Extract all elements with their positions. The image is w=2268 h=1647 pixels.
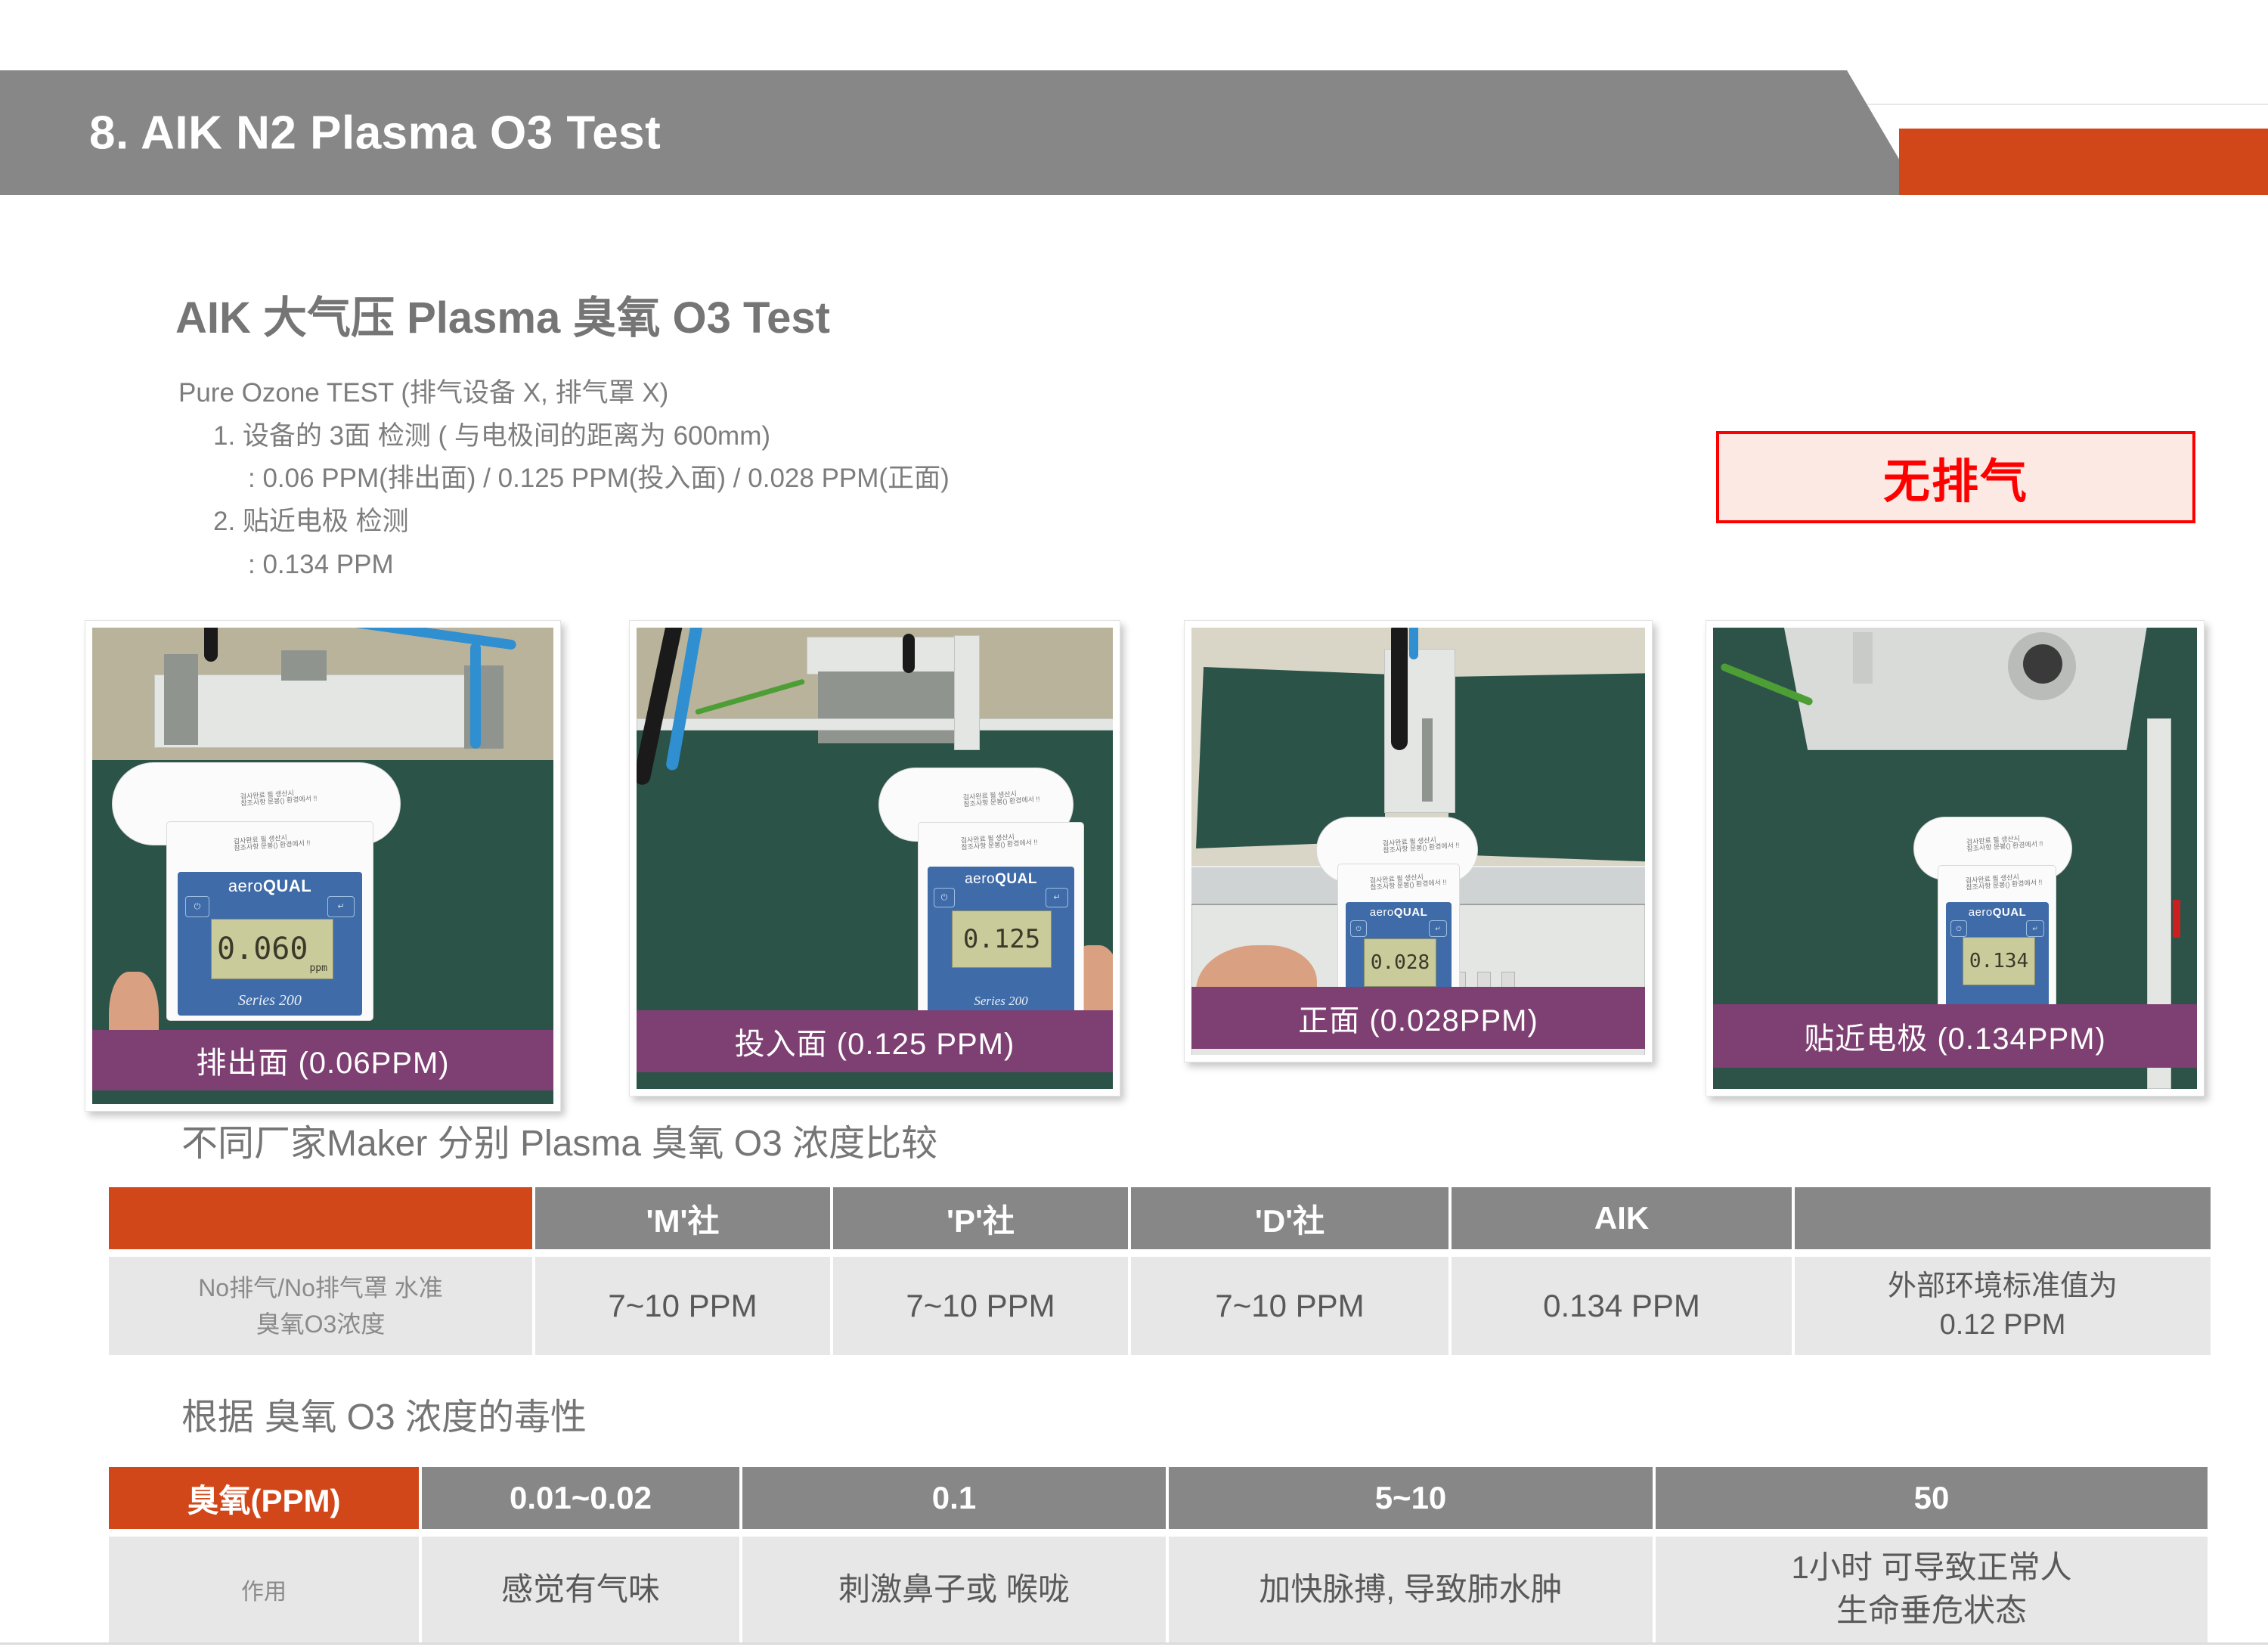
- compare-header-aik: AIK: [1452, 1187, 1792, 1249]
- header-accent-bar: [1899, 129, 2268, 195]
- ozone-meter-4: 검사완료 필 생산시참조사항 문봉() 환경에서 !! 검사완료 필 생산시참조…: [1913, 817, 2087, 1028]
- compare-header-d: 'D'社: [1131, 1187, 1448, 1249]
- photo-card-exhaust-side: 검사완료 필 생산시참조사항 문봉() 환경에서 !! 검사완료 필 생산시참조…: [85, 620, 561, 1112]
- page-title: 8. AIK N2 Plasma O3 Test: [89, 106, 661, 160]
- photo-caption-bar: 正面 (0.028PPM): [1191, 987, 1645, 1049]
- meter-body-print: 검사완료 필 생산시참조사항 문봉() 환경에서 !!: [233, 833, 310, 852]
- section-title-main: AIK 大气压 Plasma 臭氧 O3 Test: [175, 282, 830, 346]
- photo-caption-bar: 投入面 (0.125 PPM): [637, 1010, 1113, 1072]
- description-line-4: 2. 贴近电极 检测: [213, 501, 950, 544]
- compare-table-gap: [109, 1249, 2211, 1257]
- photo-image-near-electrode: 검사완료 필 생산시참조사항 문봉() 환경에서 !! 검사완료 필 생산시참조…: [1713, 628, 2197, 1089]
- toxicity-effect-4: 1小时 可导致正常人 生命垂危状态: [1656, 1537, 2208, 1642]
- compare-note-line1: 外部环境标准值为: [1802, 1267, 2203, 1306]
- meter-enter-button[interactable]: ↵: [327, 896, 355, 917]
- photo-caption-text: 正面 (0.028PPM): [1298, 996, 1538, 1040]
- compare-value-d: 7~10 PPM: [1131, 1257, 1448, 1355]
- compare-table-header-row: 'M'社 'P'社 'D'社 AIK: [109, 1187, 2211, 1249]
- header-banner: 8. AIK N2 Plasma O3 Test: [0, 70, 1920, 195]
- meter-power-button[interactable]: ⏻: [1950, 920, 1967, 937]
- meter-lcd-display: 0.060 ppm: [211, 919, 333, 979]
- meter-reading: 0.060: [217, 932, 308, 966]
- toxicity-header-range-3: 5~10: [1169, 1467, 1653, 1529]
- meter-reading: 0.028: [1371, 951, 1430, 974]
- meter-reading: 0.134: [1969, 950, 2028, 972]
- toxicity-header-ppm: 臭氧(PPM): [109, 1467, 419, 1529]
- scene-machine-head: [1770, 628, 2149, 750]
- meter-brand-label: aeroQUAL: [178, 876, 362, 896]
- compare-row-label-line2: 臭氧O3浓度: [116, 1306, 525, 1342]
- scene-cable-blue-2: [470, 643, 481, 749]
- no-exhaust-label: 无排气: [1883, 443, 2028, 511]
- toxicity-header-range-2: 0.1: [742, 1467, 1166, 1529]
- meter-brand-label: aeroQUAL: [1346, 906, 1452, 919]
- compare-value-p: 7~10 PPM: [833, 1257, 1128, 1355]
- meter-reading: 0.125: [963, 924, 1040, 954]
- compare-row-label-line1: No排气/No排气罩 水准: [116, 1270, 525, 1306]
- scene-machine-post: [954, 635, 980, 750]
- section-title-toxicity: 根据 臭氧 O3 浓度的毒性: [181, 1387, 587, 1440]
- meter-series-label: Series 200: [178, 992, 362, 1010]
- compare-header-blank-left: [109, 1187, 532, 1249]
- scene-machine-housing: [154, 675, 500, 748]
- section-title-compare: 不同厂家Maker 分别 Plasma 臭氧 O3 浓度比较: [181, 1113, 937, 1166]
- scene-machine-bracket-b: [281, 650, 327, 681]
- scene-machine-rail: [637, 718, 1113, 730]
- scene-machine-frame: [807, 637, 974, 675]
- ozone-meter-1: 검사완료 필 생산시참조사항 문봉() 환경에서 !! 검사완료 필 생산시참조…: [112, 762, 399, 1019]
- description-block: Pure Ozone TEST (排气设备 X, 排气罩 X) 1. 设备的 3…: [178, 372, 950, 586]
- toxicity-table: 臭氧(PPM) 0.01~0.02 0.1 5~10 50 作用 感觉有气味 刺…: [106, 1467, 2211, 1642]
- meter-lcd-display: 0.028: [1364, 938, 1436, 987]
- compare-row-label: No排气/No排气罩 水准 臭氧O3浓度: [109, 1257, 532, 1355]
- meter-lcd-display: 0.134: [1963, 937, 2035, 985]
- meter-body: 검사완료 필 생산시참조사항 문봉() 환경에서 !! aeroQUAL ⏻ ↵…: [166, 821, 373, 1021]
- compare-header-p: 'P'社: [833, 1187, 1128, 1249]
- photo-caption-bar: 排出面 (0.06PPM): [92, 1030, 553, 1090]
- compare-table: 'M'社 'P'社 'D'社 AIK No排气/No排气罩 水准 臭氧O3浓度 …: [106, 1187, 2214, 1355]
- photo-caption-text: 贴近电极 (0.134PPM): [1804, 1014, 2106, 1058]
- photo-card-front-side: 검사완료 필 생산시참조사항 문봉() 환경에서 !! 검사완료 필 생산시참조…: [1184, 620, 1653, 1062]
- toxicity-table-row: 作用 感觉有气味 刺激鼻子或 喉咙 加快脉搏, 导致肺水肿 1小时 可导致正常人…: [109, 1537, 2208, 1642]
- photo-card-near-electrode: 검사완료 필 생산시참조사항 문봉() 환경에서 !! 검사완료 필 생산시참조…: [1706, 620, 2204, 1096]
- compare-table-row: No排气/No排气罩 水准 臭氧O3浓度 7~10 PPM 7~10 PPM 7…: [109, 1257, 2211, 1355]
- toxicity-effect-3: 加快脉搏, 导致肺水肿: [1169, 1537, 1653, 1642]
- photo-caption-bar: 贴近电极 (0.134PPM): [1713, 1004, 2197, 1068]
- meter-units: ppm: [309, 963, 327, 974]
- toxicity-effect-4-line2: 生命垂危状态: [1663, 1590, 2200, 1633]
- compare-value-m: 7~10 PPM: [535, 1257, 830, 1355]
- scene-machine-detail: [1422, 718, 1433, 802]
- photo-card-input-side: 검사완료 필 생산시참조사항 문봉() 환경에서 !! 검사완료 필 생산시참조…: [629, 620, 1120, 1096]
- meter-enter-button[interactable]: ↵: [2026, 920, 2044, 937]
- description-line-3: : 0.06 PPM(排出面) / 0.125 PPM(投入面) / 0.028…: [248, 457, 950, 501]
- meter-enter-button[interactable]: ↵: [1046, 888, 1068, 907]
- toxicity-effect-1: 感觉有气味: [422, 1537, 739, 1642]
- meter-series-label: Series 200: [928, 994, 1074, 1009]
- description-line-2: 1. 设备的 3面 检测 ( 与电极间的距离为 600mm): [213, 415, 950, 458]
- compare-header-blank-right: [1795, 1187, 2211, 1249]
- photo-image-input-side: 검사완료 필 생산시참조사항 문봉() 환경에서 !! 검사완료 필 생산시참조…: [637, 628, 1113, 1089]
- toxicity-table-gap: [109, 1529, 2208, 1537]
- compare-note-line2: 0.12 PPM: [1802, 1306, 2203, 1345]
- toxicity-table-header-row: 臭氧(PPM) 0.01~0.02 0.1 5~10 50: [109, 1467, 2208, 1529]
- compare-header-m: 'M'社: [535, 1187, 830, 1249]
- meter-body-print: 검사완료 필 생산시참조사항 문봉() 환경에서 !!: [1965, 872, 2042, 892]
- toxicity-header-range-1: 0.01~0.02: [422, 1467, 739, 1529]
- bottom-rule: [0, 1642, 2268, 1645]
- meter-brand-label: aeroQUAL: [1946, 906, 2049, 919]
- photo-image-front-side: 검사완료 필 생산시참조사항 문봉() 환경에서 !! 검사완료 필 생산시참조…: [1191, 628, 1645, 1055]
- compare-note: 外部环境标准值为 0.12 PPM: [1795, 1257, 2211, 1355]
- scene-cable-black: [204, 628, 218, 662]
- description-line-5: : 0.134 PPM: [248, 544, 950, 587]
- no-exhaust-callout: 无排气: [1716, 431, 2195, 523]
- scene-cable-blue: [1409, 628, 1418, 659]
- scene-machine-bracket-a: [164, 654, 198, 745]
- description-line-1: Pure Ozone TEST (排气设备 X, 排气罩 X): [178, 372, 950, 415]
- meter-faceplate: aeroQUAL ⏻ ↵ 0.125 Series 200: [928, 867, 1074, 1015]
- meter-body: 검사완료 필 생산시참조사항 문봉() 환경에서 !! aeroQUAL ⏻ ↵…: [918, 822, 1084, 1026]
- compare-value-aik: 0.134 PPM: [1452, 1257, 1792, 1355]
- meter-body-print: 검사완료 필 생산시참조사항 문봉() 환경에서 !!: [960, 832, 1037, 851]
- photo-caption-text: 排出面 (0.06PPM): [196, 1038, 449, 1082]
- scene-cable-black-top: [903, 634, 915, 673]
- scene-red-marker: [2173, 900, 2180, 938]
- scene-cable-black: [1391, 628, 1408, 750]
- meter-lcd-display: 0.125: [952, 910, 1052, 968]
- meter-enter-button[interactable]: ↵: [1429, 920, 1447, 937]
- scene-machine-fitting: [1853, 632, 1873, 684]
- toxicity-effect-4-line1: 1小时 可导致正常人: [1663, 1546, 2200, 1590]
- photo-caption-text: 投入面 (0.125 PPM): [735, 1019, 1015, 1063]
- photo-image-exhaust-side: 검사완료 필 생산시참조사항 문봉() 환경에서 !! 검사완료 필 생산시참조…: [92, 628, 553, 1104]
- toxicity-effect-2: 刺激鼻子或 喉咙: [742, 1537, 1166, 1642]
- meter-power-button[interactable]: ⏻: [185, 896, 209, 917]
- meter-body-print: 검사완료 필 생산시참조사항 문봉() 환경에서 !!: [1369, 872, 1446, 892]
- scene-machine-box: [818, 672, 962, 743]
- ozone-meter-2: 검사완료 필 생산시참조사항 문봉() 환경에서 !! 검사완료 필 생산시참조…: [878, 768, 1113, 1025]
- meter-faceplate: aeroQUAL ⏻ ↵ 0.060 ppm Series 200: [178, 872, 362, 1016]
- scene-machine-port: [2023, 644, 2062, 684]
- toxicity-row-label: 作用: [109, 1537, 419, 1642]
- meter-brand-label: aeroQUAL: [928, 871, 1074, 888]
- meter-power-button[interactable]: ⏻: [934, 888, 955, 907]
- toxicity-header-range-4: 50: [1656, 1467, 2208, 1529]
- meter-power-button[interactable]: ⏻: [1350, 920, 1367, 937]
